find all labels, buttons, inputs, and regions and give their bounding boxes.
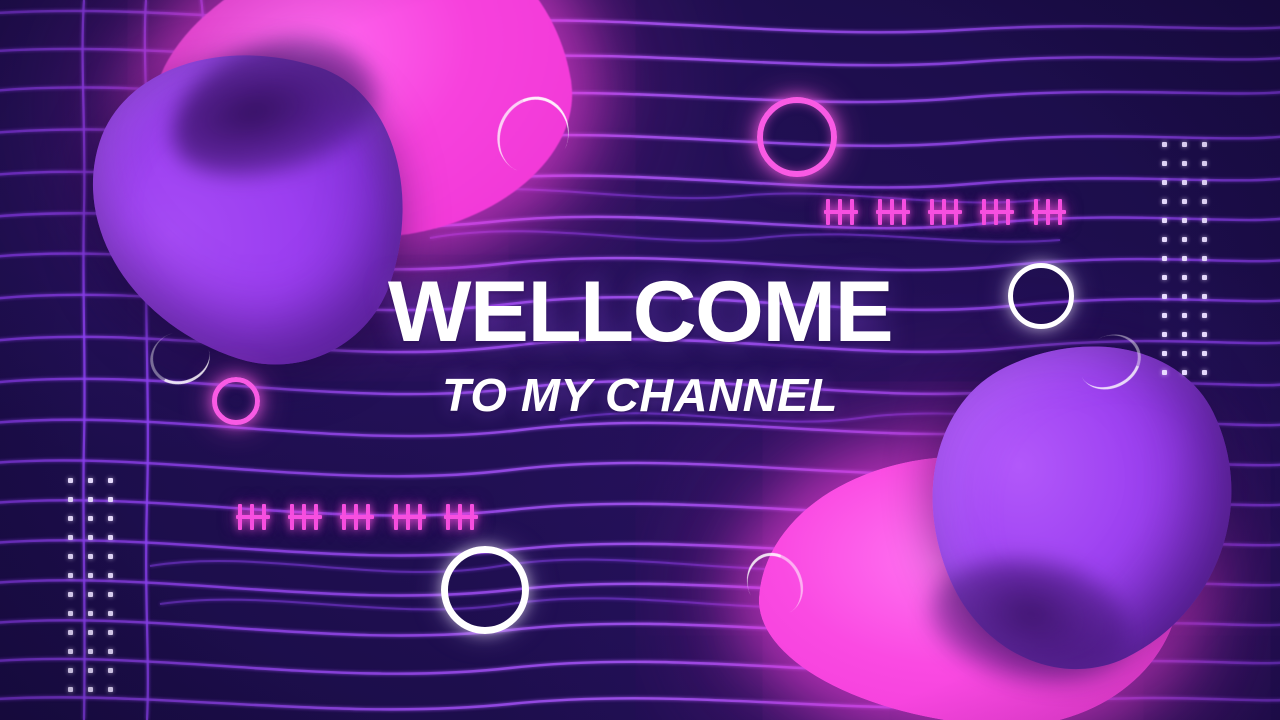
page-title: WELLCOME (0, 272, 1280, 354)
grid-dot (1202, 199, 1207, 204)
dot-grid-left (68, 478, 128, 706)
grid-dot (68, 592, 73, 597)
grid-dot (88, 649, 93, 654)
grid-dot (1162, 199, 1167, 204)
grid-dot (68, 630, 73, 635)
tally-mark-group (392, 500, 426, 534)
grid-dot (68, 497, 73, 502)
grid-dot (1182, 199, 1187, 204)
grid-dot (1182, 142, 1187, 147)
grid-dot (108, 611, 113, 616)
grid-dot (108, 497, 113, 502)
tally-mark-group (928, 195, 962, 229)
grid-dot (88, 592, 93, 597)
grid-dot (1182, 180, 1187, 185)
grid-dot (88, 554, 93, 559)
grid-dot (1202, 142, 1207, 147)
tally-mark-group (980, 195, 1014, 229)
ring-pink-top-icon (757, 97, 837, 177)
grid-dot (1182, 237, 1187, 242)
grid-dot (68, 478, 73, 483)
grid-dot (88, 668, 93, 673)
grid-dot (1202, 256, 1207, 261)
promo-banner: WELLCOME TO MY CHANNEL (0, 0, 1280, 720)
grid-dot (108, 516, 113, 521)
grid-dot (108, 554, 113, 559)
grid-dot (1162, 142, 1167, 147)
grid-dot (68, 554, 73, 559)
grid-dot (68, 668, 73, 673)
grid-dot (1202, 218, 1207, 223)
grid-dot (1162, 161, 1167, 166)
grid-dot (1182, 218, 1187, 223)
grid-dot (1162, 237, 1167, 242)
page-subtitle: TO MY CHANNEL (0, 372, 1280, 418)
grid-dot (108, 478, 113, 483)
grid-dot (68, 611, 73, 616)
grid-dot (108, 630, 113, 635)
grid-dot (1162, 218, 1167, 223)
ring-white-bottom-icon (441, 546, 529, 634)
tally-mark-group (444, 500, 478, 534)
grid-dot (108, 649, 113, 654)
grid-dot (88, 630, 93, 635)
grid-dot (1202, 237, 1207, 242)
grid-dot (88, 535, 93, 540)
tally-mark-group (824, 195, 858, 229)
tally-mark-group (876, 195, 910, 229)
grid-dot (88, 478, 93, 483)
grid-dot (68, 573, 73, 578)
tally-mark-group (236, 500, 270, 534)
grid-dot (108, 592, 113, 597)
grid-dot (68, 687, 73, 692)
grid-dot (68, 649, 73, 654)
grid-dot (88, 497, 93, 502)
grid-dot (1202, 161, 1207, 166)
grid-dot (108, 535, 113, 540)
grid-dot (88, 687, 93, 692)
grid-dot (108, 573, 113, 578)
tally-marks-top (824, 195, 1066, 229)
grid-dot (108, 687, 113, 692)
grid-dot (1202, 180, 1207, 185)
tally-mark-group (288, 500, 322, 534)
text-block: WELLCOME TO MY CHANNEL (0, 272, 1280, 418)
tally-mark-group (1032, 195, 1066, 229)
grid-dot (1162, 180, 1167, 185)
grid-dot (1182, 161, 1187, 166)
tally-marks-bottom (236, 500, 478, 534)
grid-dot (1162, 256, 1167, 261)
tally-mark-group (340, 500, 374, 534)
grid-dot (1182, 256, 1187, 261)
grid-dot (68, 516, 73, 521)
grid-dot (88, 611, 93, 616)
grid-dot (88, 573, 93, 578)
grid-dot (68, 535, 73, 540)
grid-dot (108, 668, 113, 673)
grid-dot (88, 516, 93, 521)
